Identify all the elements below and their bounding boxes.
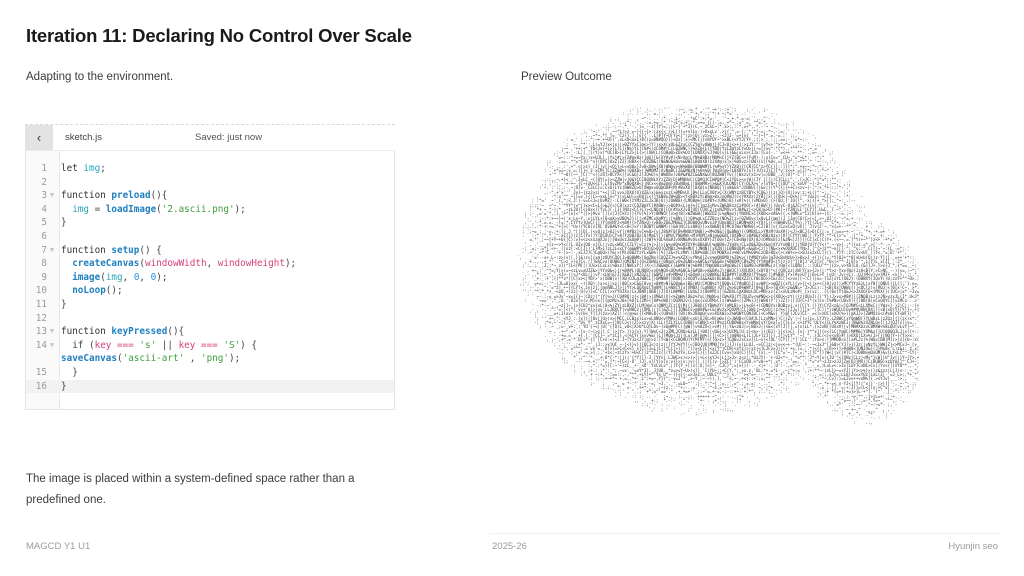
line-number: 2 [26,176,50,190]
slide-caption: The image is placed within a system-defi… [26,469,386,511]
ascii-art-canvas: ,-`;' :, - :-''` -;~: := * _-'^ ~+':-:+`… [505,108,1000,512]
editor-file-name: sketch.js [65,132,102,143]
code-line[interactable]: 2 [26,176,394,190]
code-text: image(img, 0, 0); [56,271,167,285]
code-line[interactable]: 4 img = loadImage('2.ascii.png'); [26,203,394,217]
code-text [56,176,61,190]
code-area[interactable]: 1let img;23▼function preload(){4 img = l… [25,150,395,410]
line-number: 4 [26,203,50,217]
code-text: noLoop(); [56,284,123,298]
line-number: 3 [26,189,50,203]
code-text: if (key === 's' || key === 'S') { [56,339,257,353]
line-number: 12 [26,312,50,326]
code-text: } [56,366,78,380]
code-text [56,312,61,326]
chevron-left-icon[interactable]: ‹ [25,125,53,150]
footer-course: MAGCD Y1 U1 [26,541,90,552]
code-line[interactable]: 6 [26,230,394,244]
code-line[interactable]: 8 createCanvas(windowWidth, windowHeight… [26,257,394,271]
code-line[interactable]: 9 image(img, 0, 0); [26,271,394,285]
code-line[interactable]: saveCanvas('ascii-art' , 'png'); [26,352,394,366]
editor-save-status: Saved: just now [195,132,262,143]
code-text [56,230,61,244]
line-number: 13 [26,325,50,339]
code-text: } [56,298,67,312]
footer-year: 2025-26 [492,541,527,552]
footer-author: Hyunjin seo [948,541,998,552]
code-line[interactable]: 3▼function preload(){ [26,189,394,203]
line-number: 14 [26,339,50,353]
code-editor-panel: ‹ sketch.js Saved: just now 1let img;23▼… [25,124,395,409]
page-subtitle: Adapting to the environment. [26,71,173,83]
code-line[interactable]: 5} [26,216,394,230]
ascii-art-preview: ,-`;' :, - :-''` -;~: := * _-'^ ~+':-:+`… [505,104,1000,514]
code-text: function preload(){ [56,189,167,203]
line-number: 15 [26,366,50,380]
page-title: Iteration 11: Declaring No Control Over … [26,25,412,47]
code-text: createCanvas(windowWidth, windowHeight); [56,257,296,271]
code-line[interactable]: 15 } [26,366,394,380]
code-text: let img; [56,162,106,176]
line-number: 10 [26,284,50,298]
line-number: 8 [26,257,50,271]
line-number: 7 [26,244,50,258]
code-line[interactable]: 16} [26,380,394,394]
line-number [26,352,50,366]
code-text: img = loadImage('2.ascii.png'); [56,203,246,217]
line-number: 16 [26,380,50,394]
footer-divider [490,533,1000,534]
code-text: saveCanvas('ascii-art' , 'png'); [56,352,240,366]
editor-toolbar: ‹ sketch.js Saved: just now [25,125,395,150]
line-number: 11 [26,298,50,312]
code-line[interactable]: 11} [26,298,394,312]
code-line[interactable]: 7▼function setup() { [26,244,394,258]
code-line[interactable]: 13▼function keyPressed(){ [26,325,394,339]
line-number: 1 [26,162,50,176]
code-lines[interactable]: 1let img;23▼function preload(){4 img = l… [26,151,394,393]
code-text: } [56,216,67,230]
code-line[interactable]: 12 [26,312,394,326]
line-number: 5 [26,216,50,230]
code-text: function setup() { [56,244,162,258]
preview-outcome-label: Preview Outcome [521,71,612,83]
code-text: } [56,380,67,394]
code-line[interactable]: 14▼ if (key === 's' || key === 'S') { [26,339,394,353]
code-line[interactable]: 10 noLoop(); [26,284,394,298]
line-number: 9 [26,271,50,285]
code-text: function keyPressed(){ [56,325,184,339]
code-line[interactable]: 1let img; [26,162,394,176]
line-number: 6 [26,230,50,244]
